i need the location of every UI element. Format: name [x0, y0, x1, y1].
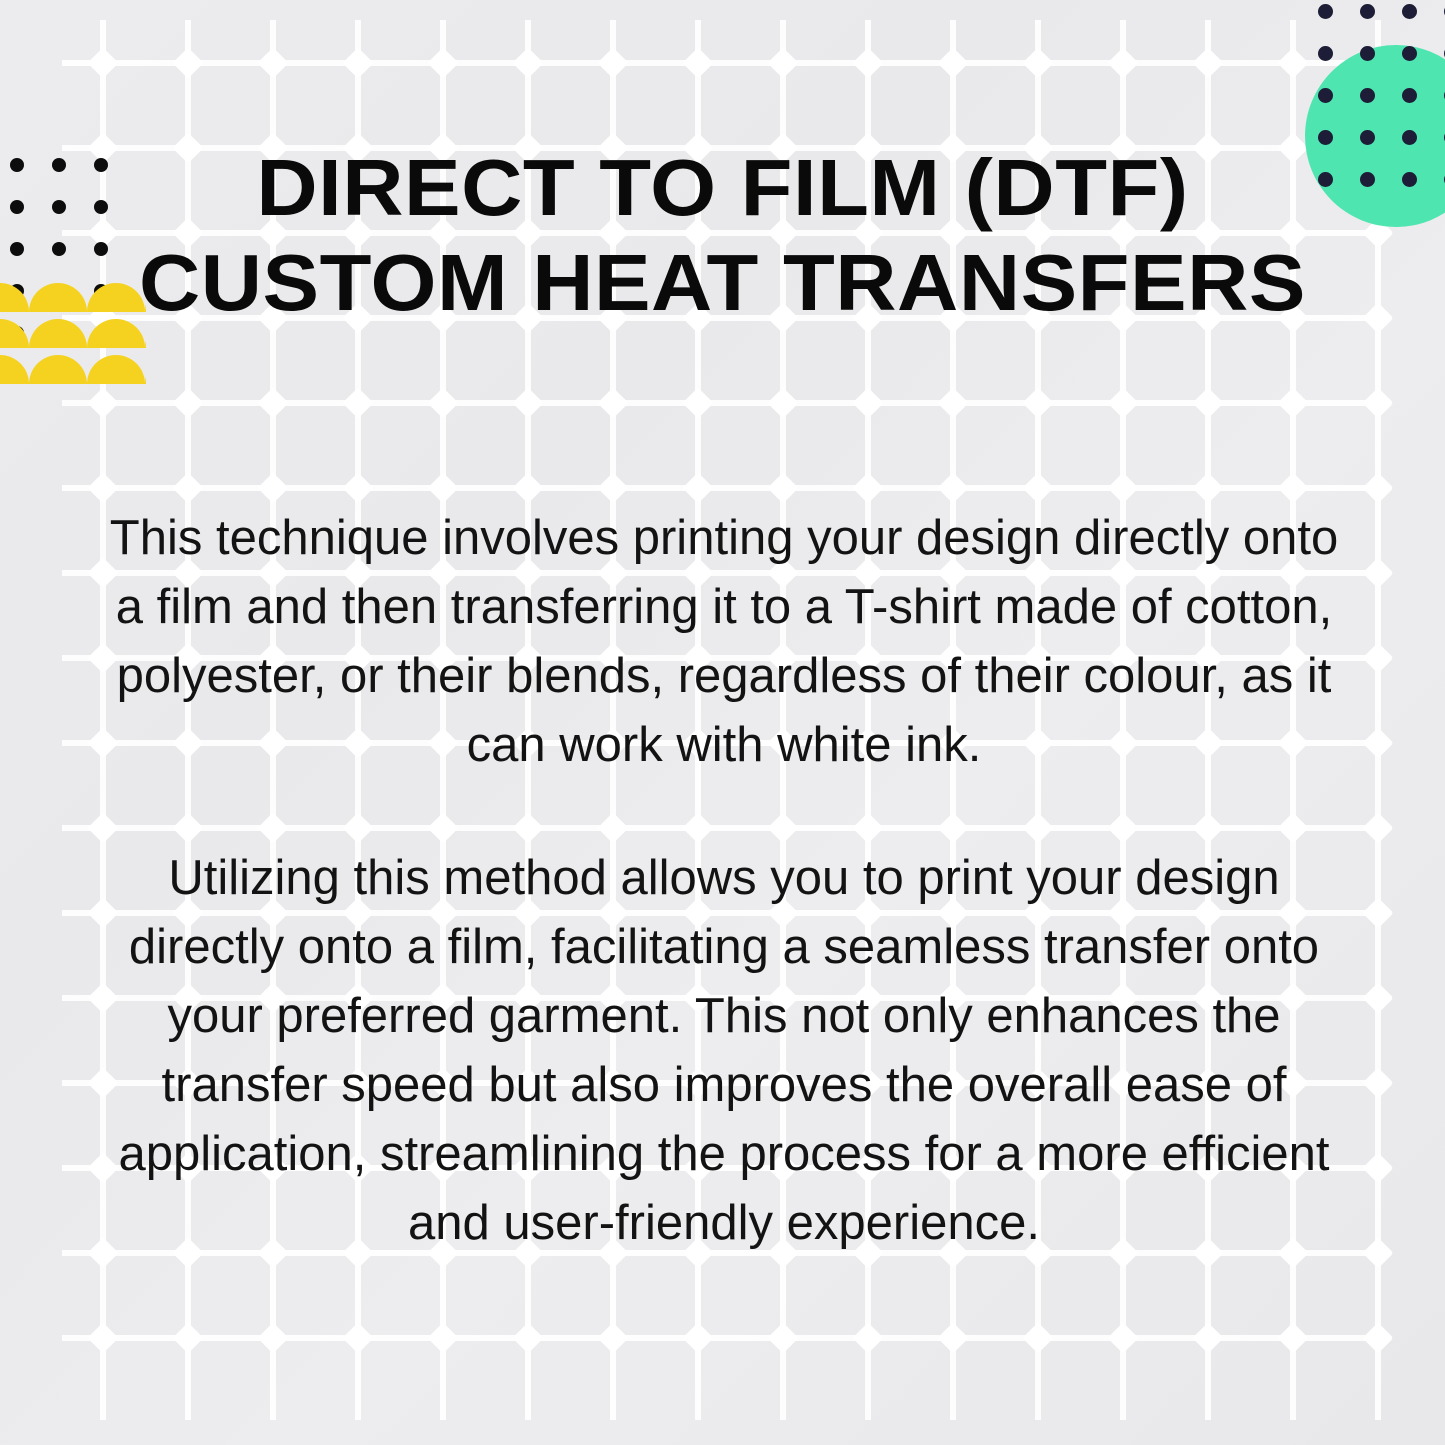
- body-paragraph-1: This technique involves printing your de…: [95, 504, 1353, 780]
- page-title-line-1: DIRECT TO FILM (DTF): [57, 140, 1387, 235]
- page-title-line-2: CUSTOM HEAT TRANSFERS: [57, 235, 1387, 330]
- body-paragraph-2: Utilizing this method allows you to prin…: [85, 844, 1363, 1258]
- page-title: DIRECT TO FILM (DTF) CUSTOM HEAT TRANSFE…: [57, 140, 1387, 330]
- poster-canvas: DIRECT TO FILM (DTF) CUSTOM HEAT TRANSFE…: [0, 0, 1445, 1445]
- poster-content: DIRECT TO FILM (DTF) CUSTOM HEAT TRANSFE…: [0, 0, 1445, 1445]
